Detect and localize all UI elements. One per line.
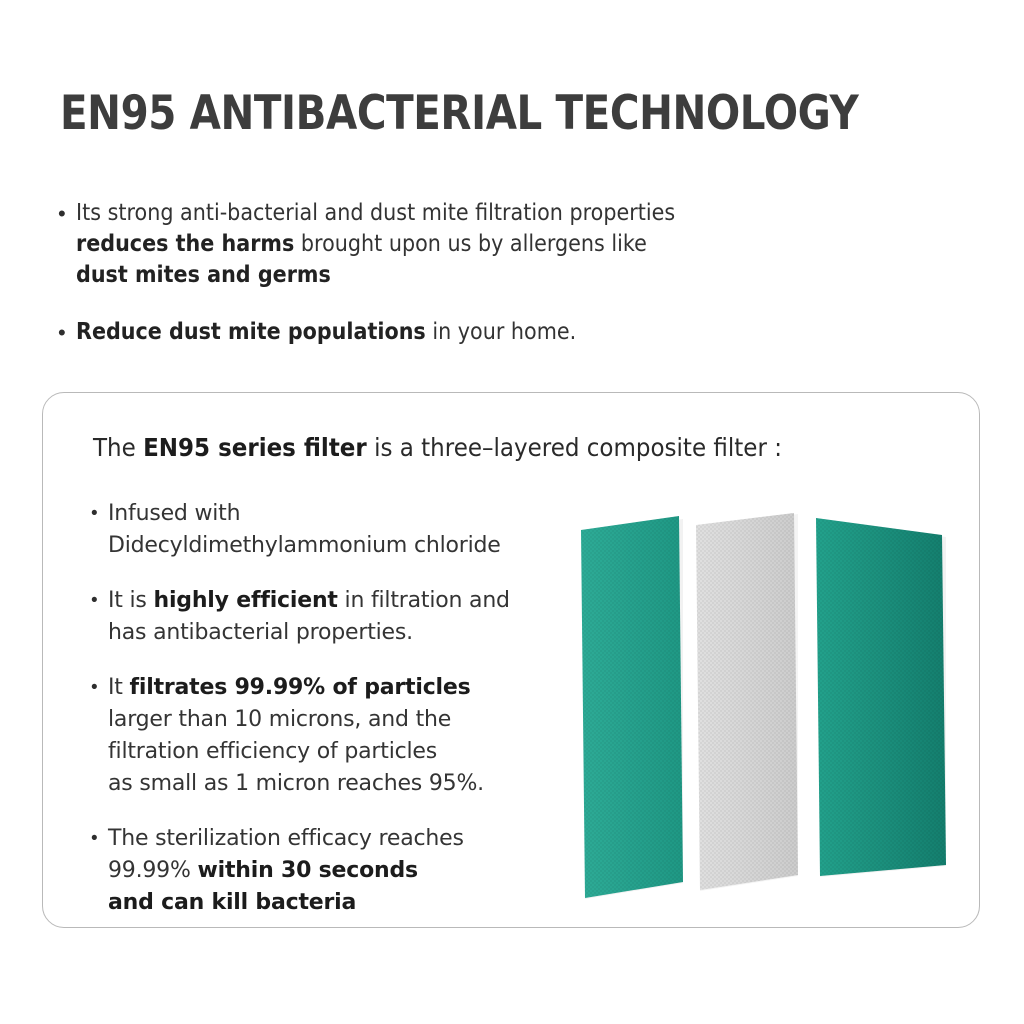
filter-info-card: The EN95 series filter is a three–layere… <box>42 392 980 928</box>
three-layer-filter-diagram <box>571 513 971 913</box>
filter-layer-inner <box>816 518 946 877</box>
card-heading: The EN95 series filter is a three–layere… <box>93 431 782 465</box>
intro-item-text: Its strong anti-bacterial and dust mite … <box>76 198 870 291</box>
list-item: • Infused with Didecyldimethylammonium c… <box>91 498 591 562</box>
list-item: • It is highly efficient in filtration a… <box>91 585 591 649</box>
bullet-icon: • <box>91 823 108 855</box>
page-title: EN95 ANTIBACTERIAL TECHNOLOGY <box>60 88 858 140</box>
bullet-icon: • <box>91 498 108 530</box>
list-item: • Its strong anti-bacterial and dust mit… <box>58 198 958 291</box>
filter-layer-middle <box>696 513 798 891</box>
filter-layer-outer <box>581 516 683 899</box>
list-item: • The sterilization efficacy reaches 99.… <box>91 823 591 919</box>
filter-item-text: The sterilization efficacy reaches 99.99… <box>108 823 464 919</box>
bullet-icon: • <box>58 198 76 229</box>
filter-bullet-list: • Infused with Didecyldimethylammonium c… <box>91 498 591 928</box>
intro-bullet-list: • Its strong anti-bacterial and dust mit… <box>58 198 958 374</box>
filter-item-text: It filtrates 99.99% of particles larger … <box>108 672 484 800</box>
list-item: • Reduce dust mite populations in your h… <box>58 317 958 348</box>
intro-item-text: Reduce dust mite populations in your hom… <box>76 317 870 348</box>
bullet-icon: • <box>91 585 108 617</box>
bullet-icon: • <box>91 672 108 704</box>
bullet-icon: • <box>58 317 76 348</box>
filter-item-text: It is highly efficient in filtration and… <box>108 585 510 649</box>
filter-item-text: Infused with Didecyldimethylammonium chl… <box>108 498 501 562</box>
list-item: • It filtrates 99.99% of particles large… <box>91 672 591 800</box>
